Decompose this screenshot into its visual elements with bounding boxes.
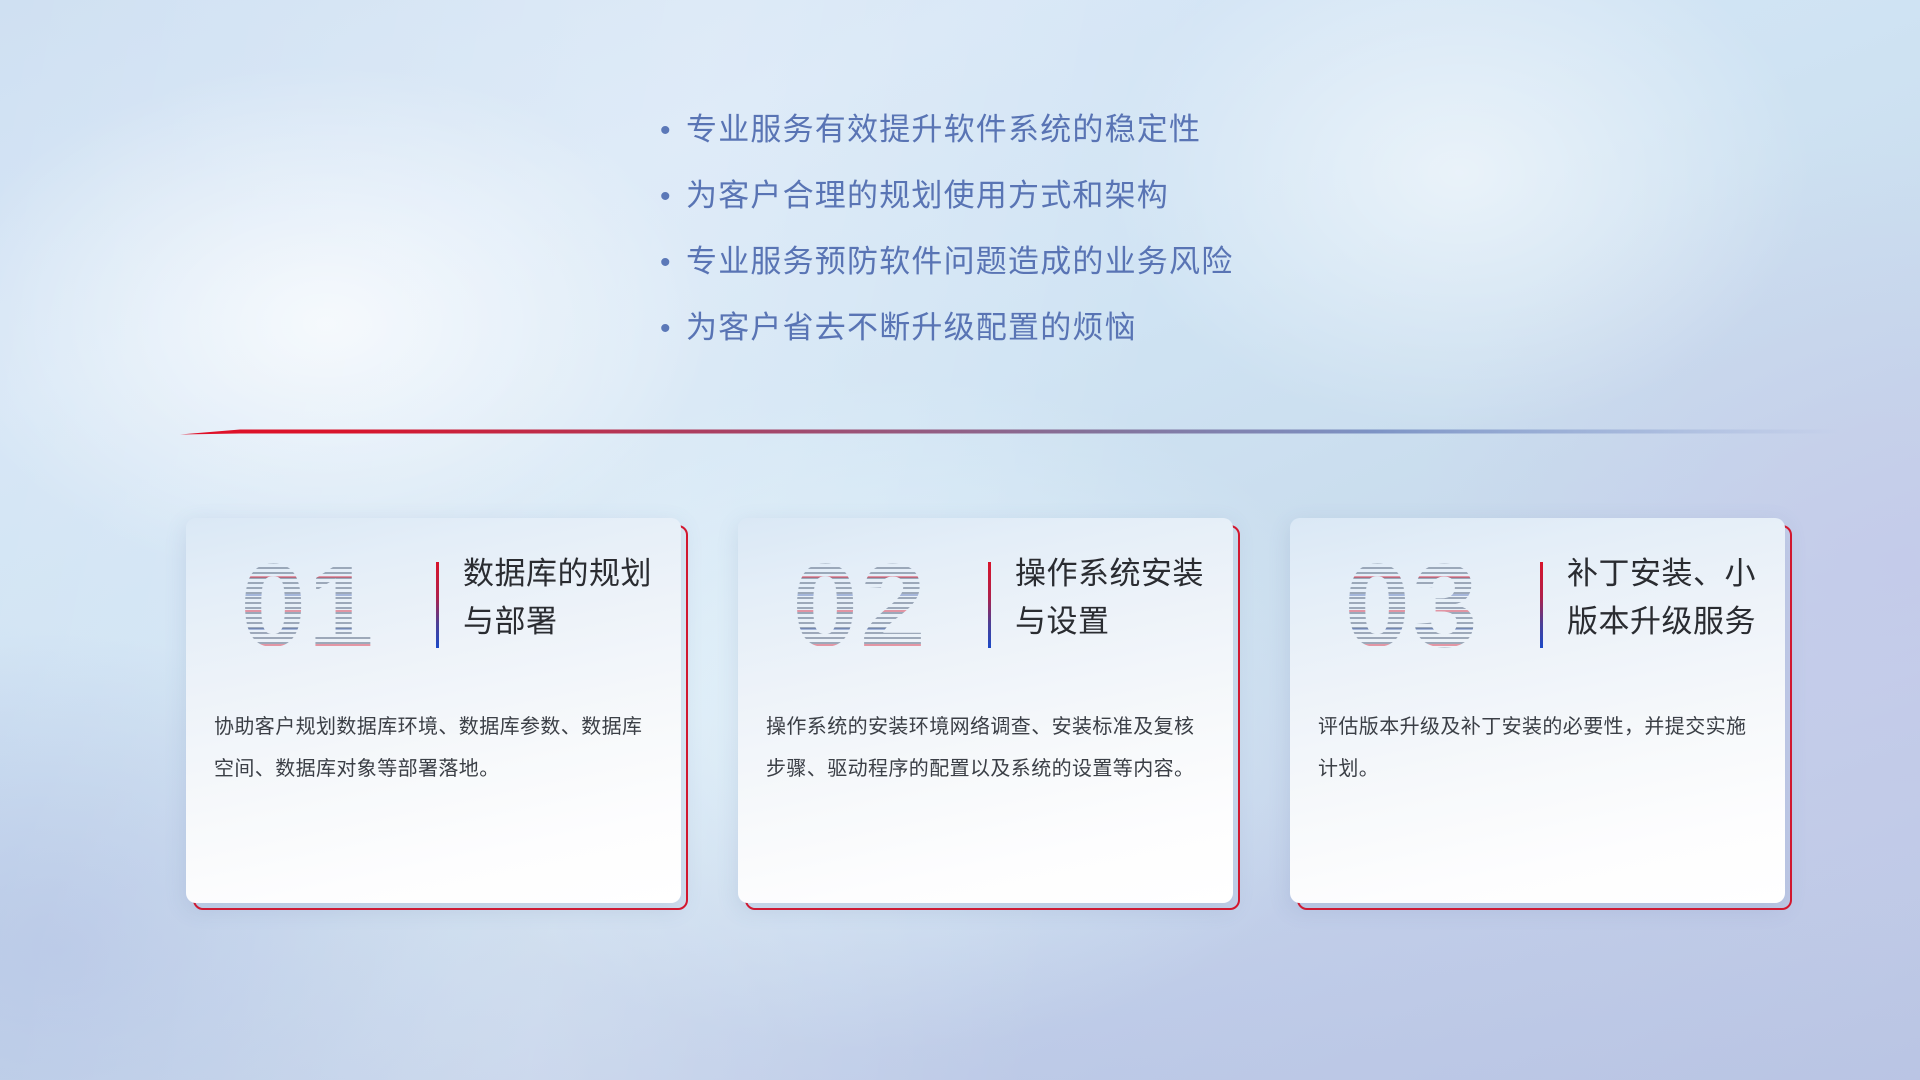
card-number-ghost-tint: 02 (760, 542, 960, 670)
bullet-text: 为客户省去不断升级配置的烦恼 (686, 302, 1137, 347)
card-number-ghost-tint: 01 (208, 542, 408, 670)
bullet-dot-icon: • (660, 314, 686, 344)
card-header: 03 03 补丁安装、小版本升级服务 (1290, 518, 1785, 693)
bullet-dot-icon: • (660, 248, 686, 278)
section-divider (180, 424, 1840, 438)
bullet-dot-icon: • (660, 116, 686, 146)
list-item: • 为客户省去不断升级配置的烦恼 (660, 302, 1233, 368)
bullet-text: 专业服务有效提升软件系统的稳定性 (686, 104, 1201, 149)
card-surface: 01 01 数据库的规划与部署 协助客户规划数据库环境、数据库参数、数据库空间、… (186, 518, 681, 903)
card-number-ghost-tint: 03 (1312, 542, 1512, 670)
card-surface: 03 03 补丁安装、小版本升级服务 评估版本升级及补丁安装的必要性，并提交实施… (1290, 518, 1785, 903)
list-item: • 专业服务有效提升软件系统的稳定性 (660, 104, 1233, 170)
slide-canvas: • 专业服务有效提升软件系统的稳定性 • 为客户合理的规划使用方式和架构 • 专… (0, 0, 1920, 1080)
service-card-03[interactable]: 03 03 补丁安装、小版本升级服务 评估版本升级及补丁安装的必要性，并提交实施… (1290, 518, 1785, 903)
title-accent-rule (436, 562, 439, 648)
benefit-bullet-list: • 专业服务有效提升软件系统的稳定性 • 为客户合理的规划使用方式和架构 • 专… (660, 104, 1233, 368)
card-header: 01 01 数据库的规划与部署 (186, 518, 681, 693)
card-description: 协助客户规划数据库环境、数据库参数、数据库空间、数据库对象等部署落地。 (214, 706, 654, 790)
card-header: 02 02 操作系统安装与设置 (738, 518, 1233, 693)
service-card-row: 01 01 数据库的规划与部署 协助客户规划数据库环境、数据库参数、数据库空间、… (186, 518, 1786, 903)
card-surface: 02 02 操作系统安装与设置 操作系统的安装环境网络调查、安装标准及复核步骤、… (738, 518, 1233, 903)
list-item: • 专业服务预防软件问题造成的业务风险 (660, 236, 1233, 302)
card-title: 操作系统安装与设置 (1015, 550, 1211, 646)
title-accent-rule (988, 562, 991, 648)
bullet-text: 专业服务预防软件问题造成的业务风险 (686, 236, 1233, 281)
card-title: 补丁安装、小版本升级服务 (1567, 550, 1763, 646)
service-card-01[interactable]: 01 01 数据库的规划与部署 协助客户规划数据库环境、数据库参数、数据库空间、… (186, 518, 681, 903)
list-item: • 为客户合理的规划使用方式和架构 (660, 170, 1233, 236)
bullet-text: 为客户合理的规划使用方式和架构 (686, 170, 1169, 215)
title-accent-rule (1540, 562, 1543, 648)
service-card-02[interactable]: 02 02 操作系统安装与设置 操作系统的安装环境网络调查、安装标准及复核步骤、… (738, 518, 1233, 903)
card-title: 数据库的规划与部署 (463, 550, 659, 646)
tapered-rule-icon (180, 424, 1840, 438)
card-description: 操作系统的安装环境网络调查、安装标准及复核步骤、驱动程序的配置以及系统的设置等内… (766, 706, 1206, 790)
bullet-dot-icon: • (660, 182, 686, 212)
card-description: 评估版本升级及补丁安装的必要性，并提交实施计划。 (1318, 706, 1758, 790)
